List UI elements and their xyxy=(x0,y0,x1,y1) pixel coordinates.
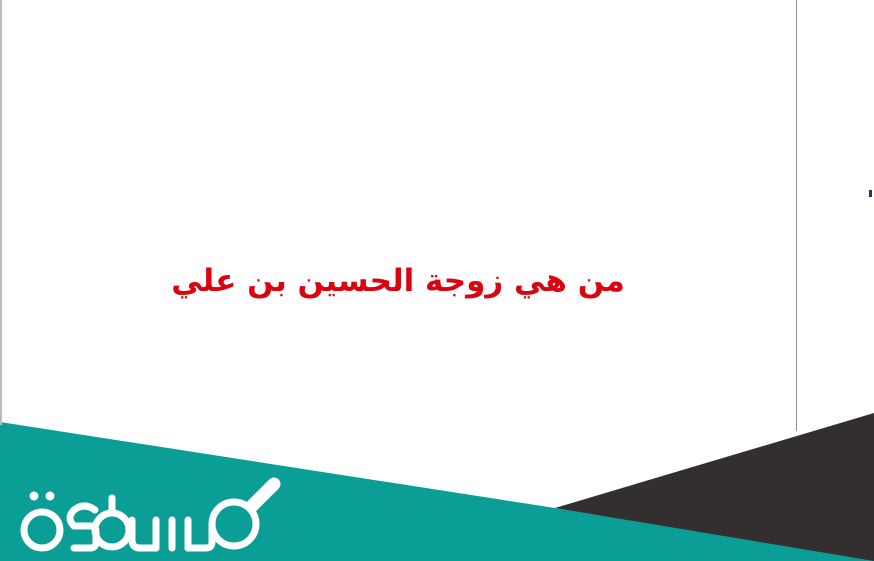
letter-waw xyxy=(188,524,212,548)
letter-seen-bowl xyxy=(132,520,156,548)
letter-seen-teeth xyxy=(156,520,188,548)
slide-headline: من هي زوجة الحسين بن علي xyxy=(0,258,796,304)
logo-svg xyxy=(12,468,292,552)
letter-ain xyxy=(70,506,96,548)
logo-wordmark-strokes xyxy=(24,484,274,548)
magnifier-handle-icon xyxy=(252,484,274,506)
letter-waw-2 xyxy=(95,513,129,547)
slide-image: من هي زوجة الحسين بن علي xyxy=(0,0,874,561)
logo xyxy=(12,468,292,552)
edge-artifact xyxy=(869,190,872,197)
taa-marbuta-dots xyxy=(30,492,55,501)
letter-taa-marbuta xyxy=(24,512,60,548)
slide-right-border xyxy=(796,0,797,431)
slide-left-border xyxy=(0,0,2,425)
